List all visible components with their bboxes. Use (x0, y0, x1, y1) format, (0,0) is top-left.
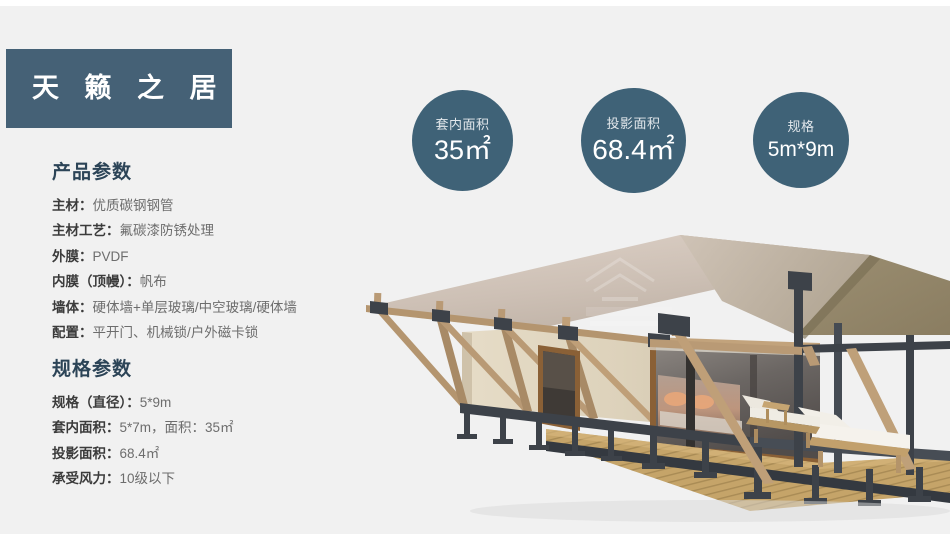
spec-label: 承受风力： (52, 471, 120, 486)
section-heading: 产品参数 (52, 163, 392, 184)
spec-panel: 产品参数 主材：优质碳钢钢管 主材工艺：氟碳漆防锈处理 外膜：PVDF 内膜（顶… (52, 163, 392, 506)
spec-label: 配置： (52, 325, 93, 340)
section-product-parameters: 产品参数 主材：优质碳钢钢管 主材工艺：氟碳漆防锈处理 外膜：PVDF 内膜（顶… (52, 163, 392, 346)
spec-row: 内膜（顶幔）：帆布 (52, 269, 392, 295)
spec-row: 承受风力：10级以下 (52, 466, 392, 492)
stat-badge-value: 68.4㎡ (592, 136, 675, 164)
stat-badge-label: 套内面积 (435, 118, 489, 131)
spec-label: 内膜（顶幔）： (52, 274, 140, 289)
spec-label: 主材： (52, 198, 93, 213)
spec-value: 平开门、机械锁/户外磁卡锁 (93, 325, 259, 340)
product-render-image (350, 215, 950, 534)
page-title: 天 籁 之 居 (32, 75, 226, 102)
spec-row: 主材工艺：氟碳漆防锈处理 (52, 218, 392, 244)
spec-value: 10级以下 (120, 471, 176, 486)
spec-value: 5*9m (140, 395, 172, 410)
spec-row: 投影面积：68.4㎡ (52, 441, 392, 467)
top-white-strip (0, 0, 950, 6)
stat-badge-label: 规格 (787, 120, 814, 133)
title-banner: 天 籁 之 居 (6, 49, 232, 128)
spec-row: 规格（直径）：5*9m (52, 390, 392, 416)
spec-value: 氟碳漆防锈处理 (120, 223, 215, 238)
section-specification-parameters: 规格参数 规格（直径）：5*9m 套内面积：5*7m，面积：35㎡ 投影面积：6… (52, 360, 392, 492)
stat-badge-value: 5m*9m (768, 139, 835, 160)
spec-value: 硬体墙+单层玻璃/中空玻璃/硬体墙 (93, 300, 297, 315)
spec-label: 主材工艺： (52, 223, 120, 238)
spec-row: 外膜：PVDF (52, 244, 392, 270)
ground-shadow (470, 500, 950, 522)
spec-value: 帆布 (140, 274, 167, 289)
stat-badge-label: 投影面积 (606, 117, 660, 130)
spec-row: 墙体：硬体墙+单层玻璃/中空玻璃/硬体墙 (52, 295, 392, 321)
section-heading: 规格参数 (52, 360, 392, 381)
spec-label: 投影面积： (52, 446, 120, 461)
spec-value: 优质碳钢钢管 (93, 198, 174, 213)
spec-value: 68.4㎡ (120, 446, 160, 461)
stat-badge-projected-area: 投影面积 68.4㎡ (581, 88, 686, 193)
spec-row: 主材：优质碳钢钢管 (52, 193, 392, 219)
spec-label: 墙体： (52, 300, 93, 315)
spec-label: 外膜： (52, 249, 93, 264)
product-spec-page: 天 籁 之 居 产品参数 主材：优质碳钢钢管 主材工艺：氟碳漆防锈处理 外膜：P… (0, 0, 950, 534)
spec-value: PVDF (93, 249, 129, 264)
stat-badge-interior-area: 套内面积 35㎡ (412, 90, 513, 191)
spec-label: 规格（直径）： (52, 395, 140, 410)
spec-label: 套内面积： (52, 420, 120, 435)
spec-row: 套内面积：5*7m，面积：35㎡ (52, 415, 392, 441)
spec-row: 配置：平开门、机械锁/户外磁卡锁 (52, 320, 392, 346)
stat-badge-value: 35㎡ (434, 137, 491, 164)
stat-badge-dimensions: 规格 5m*9m (753, 92, 849, 188)
spec-value: 5*7m，面积：35㎡ (120, 420, 234, 435)
